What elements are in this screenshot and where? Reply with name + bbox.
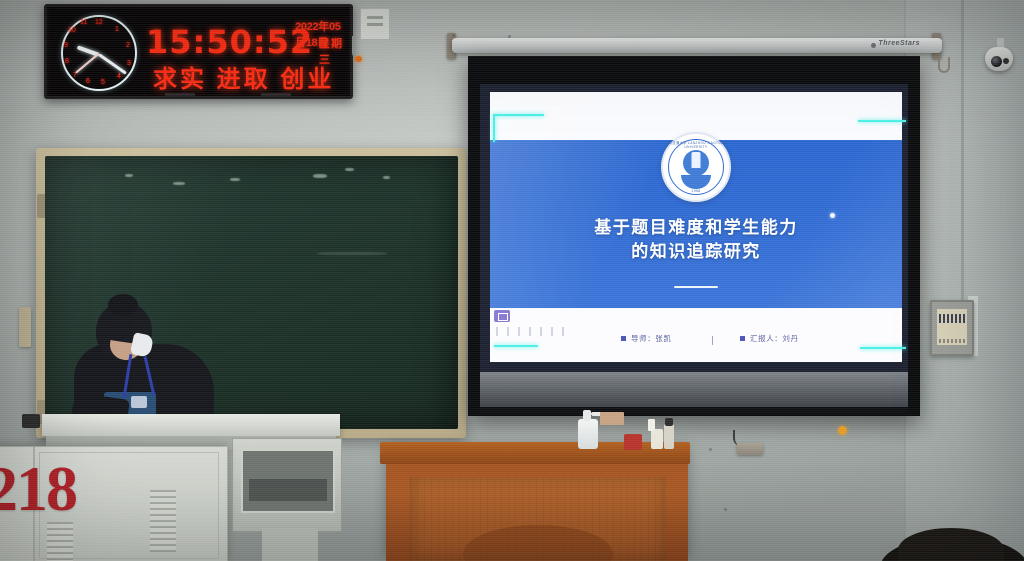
wall-right-section [905,0,1024,561]
bullet-square-icon [621,336,626,341]
wall-control-panel[interactable] [930,300,974,356]
presenter-label: 汇报人：刘丹 [750,333,799,344]
paper-card-on-lectern [600,412,624,425]
slide-title-line2: 的知识追踪研究 [490,240,902,264]
advisor-credit: 导师：张凯 [621,333,672,344]
mouse-cursor-dot [830,213,835,218]
small-bottle [651,429,663,449]
wall-seam-upper [961,0,964,300]
analog-clock-face: 12 1 2 3 4 5 6 7 8 9 10 11 [61,15,137,91]
logo-bottom-text: 1958 [663,189,729,193]
cabinet-vent [47,522,73,561]
presentation-slide: 兰州交通大学 LANZHOU JIAOTONG UNIVERSITY 1958 … [490,92,902,362]
camera-ir-sensor [1003,58,1009,64]
screen-lower-fold [480,372,908,408]
led-clock-display: 12 1 2 3 4 5 6 7 8 9 10 11 15:50:52 2022… [44,4,353,99]
hand-sanitizer-bottle [578,419,598,449]
person-id-badge [131,396,147,408]
desk-cabinet-opening [241,449,335,513]
red-box [624,434,642,450]
screen-brand-label: ThreeStars [878,40,920,47]
classroom-scene: 12 1 2 3 4 5 6 7 8 9 10 11 15:50:52 2022… [0,0,1024,561]
lectern-top-surface [380,442,690,464]
person-at-desk [74,300,214,426]
person-hair-bun [108,294,138,316]
lectern-front-panel [410,477,666,561]
amber-indicator-light [838,426,847,435]
university-logo-icon: 兰州交通大学 LANZHOU JIAOTONG UNIVERSITY 1958 [661,132,731,202]
wooden-lectern [386,449,688,561]
wall-mounted-box [737,443,763,455]
small-spray-bottle [664,424,674,449]
screen-artifact-line [494,345,538,347]
small-paper-item [648,419,655,431]
logo-building-shape [692,152,701,168]
desk-leg [262,528,318,561]
bullet-square-icon [740,336,745,341]
presenter-credit: 汇报人：刘丹 [740,333,799,344]
front-desk-top [42,414,340,436]
slide-title-line1: 基于题目难度和学生能力 [490,216,902,240]
panel-inner-face [937,309,967,345]
powerpoint-toolbar-strip[interactable] [496,327,566,336]
clock-minute-hand [98,53,127,74]
blackboard-side-clip [19,307,31,347]
clock-mount-foot-left [165,93,195,97]
projected-image-area: 无信号输入 兰州交通大学 LANZHOU JIAOTONG UNIVERSITY… [480,84,908,379]
clock-mount-foot-right [261,93,291,97]
slide-title-underline [674,286,718,288]
screen-artifact-line [493,114,495,142]
desk-side-cabinet [232,438,342,532]
credit-separator [712,336,713,345]
indicator-light [355,56,362,62]
led-time-text: 15:50:52 [146,23,313,61]
sanitizer-pump [583,410,591,421]
screen-artifact-line [494,114,544,116]
brand-logo-dot [871,43,876,48]
slide-title: 基于题目难度和学生能力 的知识追踪研究 [490,216,902,264]
projection-screen: 无信号输入 兰州交通大学 LANZHOU JIAOTONG UNIVERSITY… [468,56,920,416]
screen-artifact-line [860,347,906,349]
powerpoint-badge-icon[interactable] [494,310,510,322]
camera-lens [991,56,1002,67]
security-camera-icon [985,47,1013,71]
room-number-label: 218 [0,452,76,526]
screen-bottom-hem [480,407,908,414]
logo-top-text: 兰州交通大学 LANZHOU JIAOTONG UNIVERSITY [663,140,729,149]
projector-screen-case[interactable]: ThreeStars [452,38,942,53]
led-clock-panel: 12 1 2 3 4 5 6 7 8 9 10 11 15:50:52 2022… [49,9,348,94]
advisor-label: 导师：张凯 [631,333,672,344]
screen-artifact-line [858,120,906,122]
screen-pull-hook [938,57,950,73]
panel-label-strip [939,339,965,343]
cabinet-vent [150,490,176,552]
chalk-tray-item [22,414,40,428]
clock-second-hand [76,53,100,73]
